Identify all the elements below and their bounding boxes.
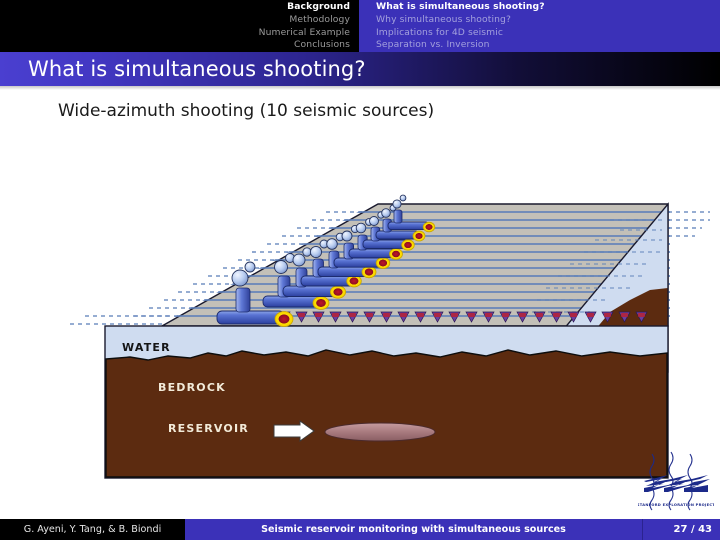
cross-section-front-face: WATER BEDROCK RESERVOIR <box>105 326 668 478</box>
label-bedrock: BEDROCK <box>158 381 226 394</box>
source-marker <box>402 240 415 250</box>
nav-subsection-what-is-simultaneous-shooting[interactable]: What is simultaneous shooting? <box>376 1 545 14</box>
figure-svg: WATER BEDROCK RESERVOIR <box>50 160 710 490</box>
footer-bar: G. Ayeni, Y. Tang, & B. Biondi Seismic r… <box>0 519 720 540</box>
sep-monogram-icon <box>644 475 710 492</box>
label-water: WATER <box>122 341 171 354</box>
nav-section-methodology[interactable]: Methodology <box>289 14 359 27</box>
nav-sections: Background Methodology Numerical Example… <box>0 0 359 52</box>
source-marker <box>390 249 403 260</box>
sep-logo-caption: STANFORD EXPLORATION PROJECT <box>638 503 714 507</box>
nav-section-numerical-example[interactable]: Numerical Example <box>259 27 359 40</box>
page-title: What is simultaneous shooting? <box>0 57 366 81</box>
source-marker <box>362 266 376 278</box>
sep-logo-svg: STANFORD EXPLORATION PROJECT <box>638 448 714 516</box>
source-marker <box>275 312 293 327</box>
nav-subsection-separation-vs-inversion[interactable]: Separation vs. Inversion <box>376 39 490 52</box>
slide: Background Methodology Numerical Example… <box>0 0 720 540</box>
source-marker <box>413 231 425 241</box>
footer-page-number: 27 / 43 <box>642 519 720 540</box>
nav-subsection-why-simultaneous-shooting[interactable]: Why simultaneous shooting? <box>376 14 511 27</box>
source-marker <box>330 286 345 298</box>
right-dashed-extensions <box>668 212 710 236</box>
nav-subsection-implications-for-4d-seismic[interactable]: Implications for 4D seismic <box>376 27 503 40</box>
sep-logo: STANFORD EXPLORATION PROJECT <box>638 448 714 516</box>
title-bar-shadow <box>0 86 720 90</box>
nav-subsections: What is simultaneous shooting? Why simul… <box>359 0 720 52</box>
footer-talk-title: Seismic reservoir monitoring with simult… <box>185 519 642 540</box>
source-marker <box>313 297 329 310</box>
nav-section-background[interactable]: Background <box>287 1 359 14</box>
source-marker <box>423 222 435 232</box>
footer-authors: G. Ayeni, Y. Tang, & B. Biondi <box>0 519 185 540</box>
slide-subtitle: Wide-azimuth shooting (10 seismic source… <box>58 101 434 121</box>
slide-title-bar: What is simultaneous shooting? <box>0 52 720 86</box>
label-reservoir: RESERVOIR <box>168 422 249 435</box>
navigation-bar: Background Methodology Numerical Example… <box>0 0 720 52</box>
source-marker <box>376 257 390 268</box>
nav-section-conclusions[interactable]: Conclusions <box>294 39 359 52</box>
wide-azimuth-shooting-figure: WATER BEDROCK RESERVOIR <box>50 160 710 490</box>
